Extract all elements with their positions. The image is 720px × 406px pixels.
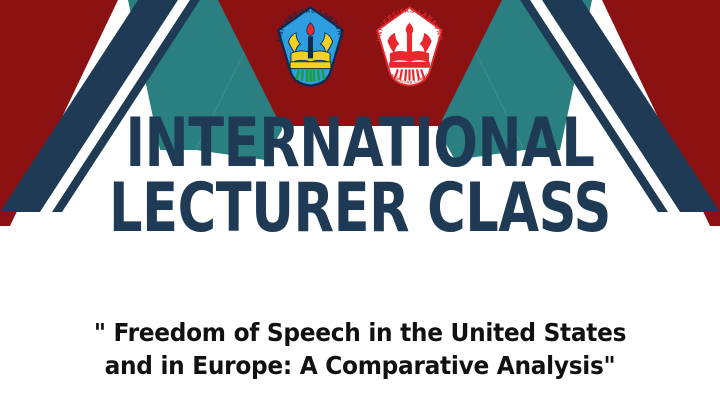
title-line-2: LECTURER CLASS [50, 177, 669, 242]
poster-canvas: UNIVERSITAS LAMPUNG UNIVERSITAS LAMPUNG [0, 0, 720, 406]
subtitle-line-2: and in Europe: A Comparative Analysis" [25, 349, 695, 382]
universitas-lampung-red-logo: UNIVERSITAS LAMPUNG UNIVERSITAS LAMPUNG [367, 4, 452, 89]
emblem-base-bar [389, 62, 430, 68]
page-title: INTERNATIONAL LECTURER CLASS [0, 112, 720, 241]
subtitle-line-1: " Freedom of Speech in the United States [25, 316, 695, 349]
page-subtitle: " Freedom of Speech in the United States… [0, 316, 720, 382]
universitas-lampung-color-logo: UNIVERSITAS LAMPUNG [268, 4, 353, 89]
emblem-base-bar [290, 62, 331, 69]
logo-row: UNIVERSITAS LAMPUNG UNIVERSITAS LAMPUNG [0, 4, 720, 89]
title-line-1: INTERNATIONAL [50, 112, 669, 177]
emblem-torch-handle [308, 36, 313, 58]
emblem-torch-handle [407, 33, 412, 59]
